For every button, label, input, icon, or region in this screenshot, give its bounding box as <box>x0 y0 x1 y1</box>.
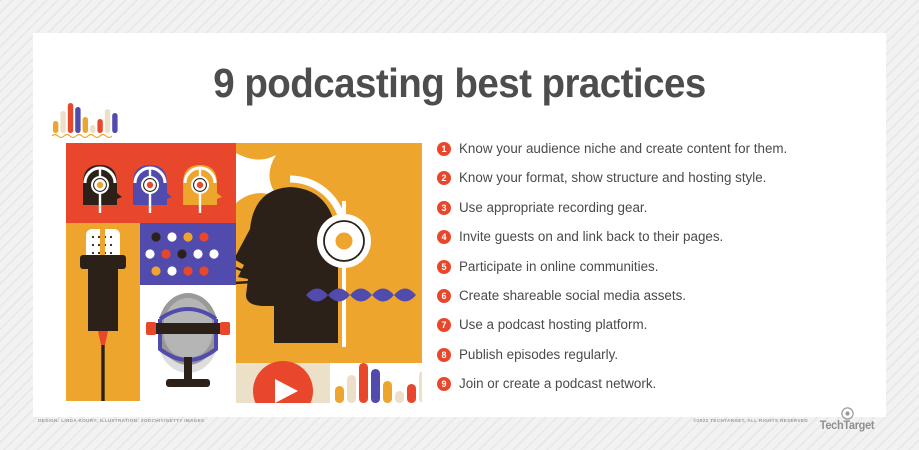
list-item-label: Use appropriate recording gear. <box>459 200 647 216</box>
best-practices-list: 1 Know your audience niche and create co… <box>437 141 867 406</box>
panel-vintage-microphone <box>140 285 236 401</box>
list-item-number: 4 <box>437 230 451 244</box>
list-item-label: Invite guests on and link back to their … <box>459 229 723 245</box>
list-item: 1 Know your audience niche and create co… <box>437 141 867 157</box>
list-item-number: 8 <box>437 348 451 362</box>
list-item-number: 5 <box>437 260 451 274</box>
mini-equalizer-svg <box>51 95 121 140</box>
panel-heads-with-headphones <box>66 143 236 223</box>
page-title: 9 podcasting best practices <box>59 60 861 107</box>
list-item-label: Create shareable social media assets. <box>459 288 686 304</box>
list-item-label: Join or create a podcast network. <box>459 376 656 392</box>
design-credit: DESIGN: LINDA KOURY; ILLUSTRATION: ZODCH… <box>38 418 204 423</box>
list-item: 4 Invite guests on and link back to thei… <box>437 229 867 245</box>
list-item-number: 2 <box>437 171 451 185</box>
podcast-illustration <box>38 143 422 403</box>
techtarget-logo: TechTarget <box>814 407 880 435</box>
list-item: 6 Create shareable social media assets. <box>437 288 867 304</box>
panel-listener-head <box>234 143 422 363</box>
list-item-label: Know your audience niche and create cont… <box>459 141 787 157</box>
infographic-canvas: 9 podcasting best practices <box>0 0 919 450</box>
infographic-card: 9 podcasting best practices <box>33 33 886 417</box>
list-item-number: 3 <box>437 201 451 215</box>
list-item: 3 Use appropriate recording gear. <box>437 200 867 216</box>
panel-dot-grid <box>140 223 236 285</box>
list-item-label: Publish episodes regularly. <box>459 347 618 363</box>
list-item-label: Participate in online communities. <box>459 259 658 275</box>
list-item-label: Know your format, show structure and hos… <box>459 170 766 186</box>
list-item-number: 1 <box>437 142 451 156</box>
illustration-svg <box>38 143 422 403</box>
panel-studio-microphone <box>66 223 140 401</box>
list-item: 7 Use a podcast hosting platform. <box>437 317 867 333</box>
list-item: 2 Know your format, show structure and h… <box>437 170 867 186</box>
list-item: 8 Publish episodes regularly. <box>437 347 867 363</box>
list-item: 5 Participate in online communities. <box>437 259 867 275</box>
list-item-number: 6 <box>437 289 451 303</box>
list-item: 9 Join or create a podcast network. <box>437 376 867 392</box>
copyright-notice: ©2022 TECHTARGET, ALL RIGHTS RESERVED <box>693 418 808 423</box>
panel-play-button <box>236 361 330 403</box>
list-item-label: Use a podcast hosting platform. <box>459 317 647 333</box>
techtarget-wordmark: TechTarget <box>816 421 879 432</box>
list-item-number: 9 <box>437 377 451 391</box>
techtarget-mark-icon <box>841 407 854 420</box>
purple-waveform <box>306 289 416 302</box>
panel-equalizer-bars <box>330 363 422 403</box>
mini-equalizer-icon <box>51 95 121 140</box>
list-item-number: 7 <box>437 318 451 332</box>
